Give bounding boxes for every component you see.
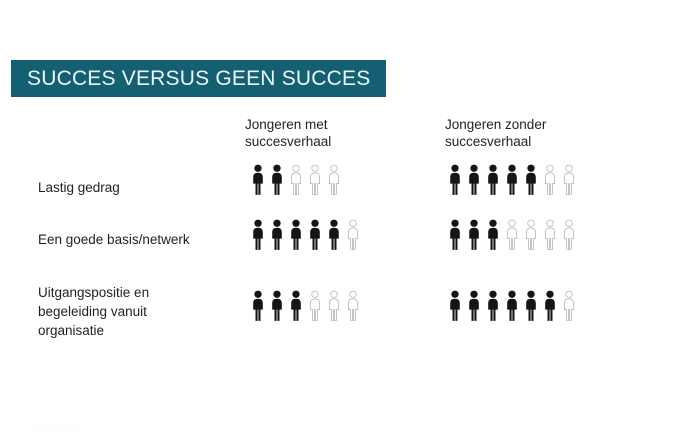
person-icon [503, 164, 521, 196]
person-icon [306, 219, 324, 251]
column-header-jongeren-met-succesverhaal: Jongeren met succesverhaal [245, 116, 331, 150]
person-icon [446, 290, 464, 322]
person-icon [344, 290, 362, 322]
person-icon [249, 290, 267, 322]
person-icon [325, 290, 343, 322]
pictogram-group-row2-col1 [446, 290, 578, 322]
pictogram-group-row2-col0 [249, 290, 362, 322]
person-icon [484, 164, 502, 196]
person-icon [522, 164, 540, 196]
person-icon [306, 164, 324, 196]
person-icon [268, 219, 286, 251]
person-icon [560, 164, 578, 196]
person-icon [446, 219, 464, 251]
row-label-een-goede-basis-netwerk: Een goede basis/netwerk [38, 230, 190, 249]
pictogram-group-row0-col1 [446, 164, 578, 196]
person-icon [484, 290, 502, 322]
person-icon [522, 290, 540, 322]
person-icon [503, 219, 521, 251]
bottom-left-artifact [31, 424, 78, 432]
title-banner: SUCCES VERSUS GEEN SUCCES [11, 60, 386, 97]
person-icon [325, 219, 343, 251]
person-icon [306, 290, 324, 322]
person-icon [465, 290, 483, 322]
person-icon [560, 290, 578, 322]
pictogram-group-row1-col0 [249, 219, 362, 251]
person-icon [287, 290, 305, 322]
person-icon [522, 219, 540, 251]
person-icon [465, 164, 483, 196]
row-label-uitgangspositie-en-begeleiding: Uitgangspositie en begeleiding vanuit or… [38, 283, 149, 340]
person-icon [465, 219, 483, 251]
person-icon [541, 164, 559, 196]
pictogram-group-row1-col1 [446, 219, 578, 251]
person-icon [344, 219, 362, 251]
person-icon [541, 290, 559, 322]
person-icon [484, 219, 502, 251]
person-icon [268, 164, 286, 196]
person-icon [325, 164, 343, 196]
row-label-lastig-gedrag: Lastig gedrag [38, 178, 120, 197]
person-icon [541, 219, 559, 251]
person-icon [446, 164, 464, 196]
column-header-jongeren-zonder-succesverhaal: Jongeren zonder succesverhaal [445, 116, 546, 150]
person-icon [560, 219, 578, 251]
person-icon [287, 219, 305, 251]
pictogram-group-row0-col0 [249, 164, 343, 196]
page-title: SUCCES VERSUS GEEN SUCCES [27, 67, 370, 91]
person-icon [503, 290, 521, 322]
person-icon [287, 164, 305, 196]
person-icon [249, 219, 267, 251]
person-icon [268, 290, 286, 322]
person-icon [249, 164, 267, 196]
